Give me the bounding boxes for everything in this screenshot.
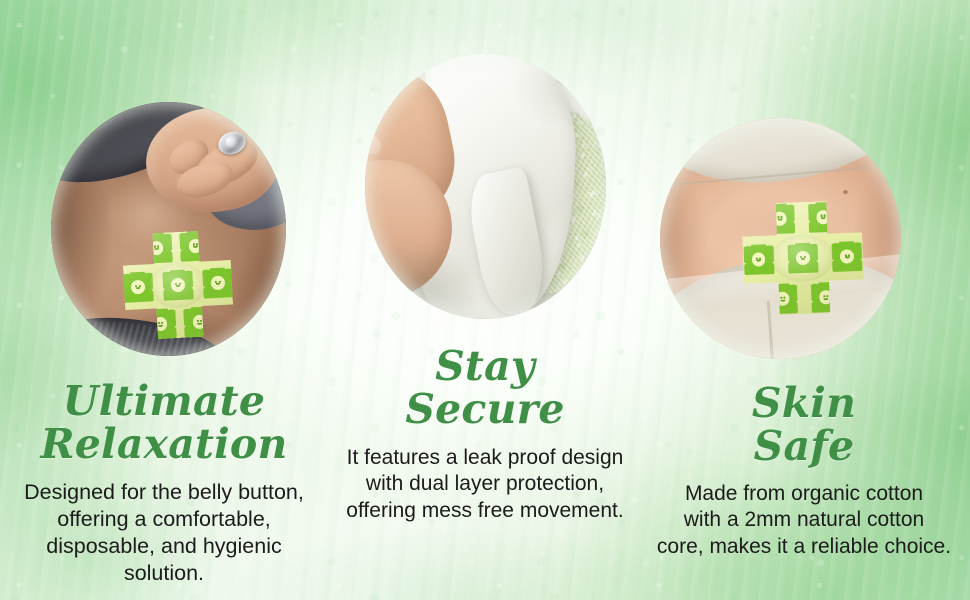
belly-with-patch-and-hand-photo [51,102,286,356]
photo-shadow [365,54,606,319]
panel-ultimate-relaxation: Ultimate Relaxation Designed for the bel… [8,380,320,587]
infographic-canvas: Ultimate Relaxation Designed for the bel… [0,0,970,600]
patch-worn-under-clothing-photo [660,118,901,359]
panel-skin-safe: Skin Safe Made from organic cotton with … [648,382,960,560]
peeling-liner-photo [365,54,606,319]
panel-heading: Stay Secure [332,345,638,432]
panel-body: Made from organic cotton with a 2mm natu… [648,481,960,560]
panel-body: It features a leak proof design with dua… [332,445,638,524]
panel-heading: Ultimate Relaxation [8,380,320,467]
panel-body: Designed for the belly button, offering … [8,479,320,587]
garment-fold [51,102,120,146]
panel-heading: Skin Safe [648,382,960,469]
panel-stay-secure: Stay Secure It features a leak proof des… [332,345,638,524]
